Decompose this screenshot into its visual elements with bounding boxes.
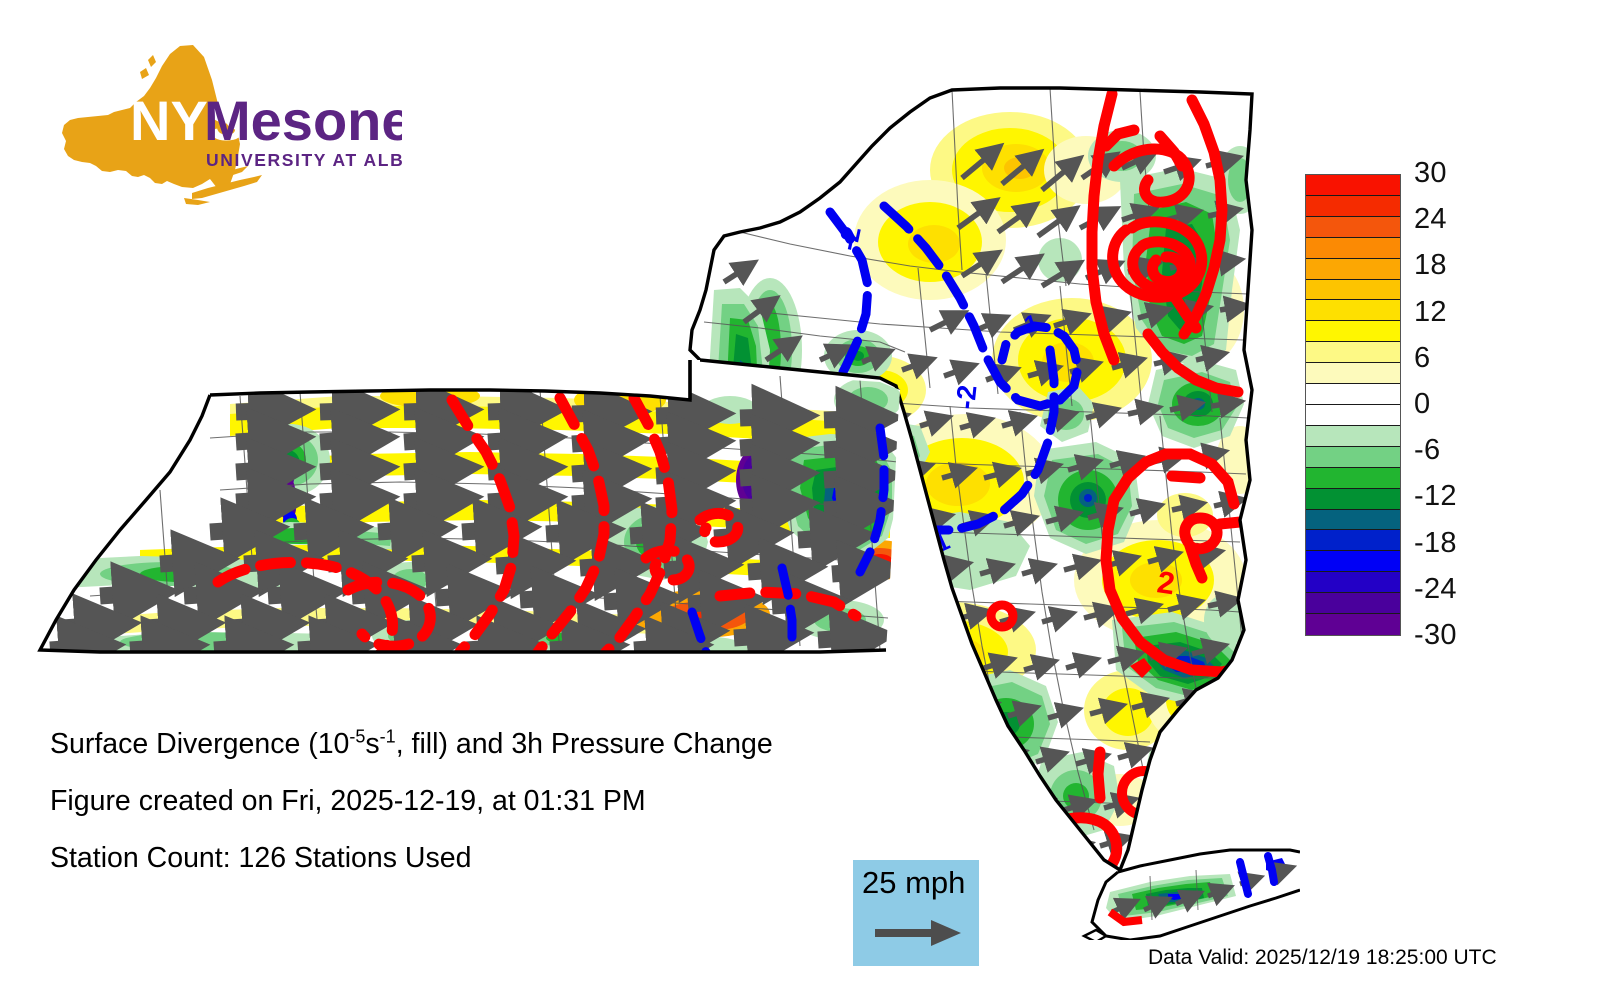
colorbar-tick-labels: 3024181260-6-12-18-24-30 xyxy=(1414,174,1544,636)
colorbar-band xyxy=(1306,447,1400,468)
caption-title-mid: s xyxy=(365,728,379,760)
caption-line-station-count: Station Count: 126 Stations Used xyxy=(50,830,950,887)
colorbar-band xyxy=(1306,384,1400,405)
figure-canvas: NYS Mesonet UNIVERSITY AT ALBANY xyxy=(0,0,1600,1000)
colorbar-band xyxy=(1306,572,1400,593)
right-arrow-icon xyxy=(873,915,963,951)
colorbar-band xyxy=(1306,489,1400,510)
colorbar-band xyxy=(1306,363,1400,384)
caption-exp-2: -1 xyxy=(380,727,396,747)
colorbar-tick-label: 18 xyxy=(1414,251,1447,280)
colorbar-band xyxy=(1306,280,1400,301)
caption-title-pre: Surface Divergence (10 xyxy=(50,728,349,760)
colorbar-tick-label: 0 xyxy=(1414,390,1430,419)
colorbar-tick-label: -12 xyxy=(1414,482,1457,511)
caption-line-created: Figure created on Fri, 2025-12-19, at 01… xyxy=(50,773,950,830)
colorbar xyxy=(1305,174,1401,636)
colorbar-band xyxy=(1306,426,1400,447)
colorbar-band xyxy=(1306,175,1400,196)
colorbar-band xyxy=(1306,259,1400,280)
colorbar-band xyxy=(1306,468,1400,489)
colorbar-band xyxy=(1306,217,1400,238)
colorbar-tick-label: -24 xyxy=(1414,575,1457,604)
colorbar-tick-label: -6 xyxy=(1414,436,1440,465)
colorbar-band xyxy=(1306,614,1400,635)
figure-caption: Surface Divergence (10-5s-1, fill) and 3… xyxy=(50,716,950,887)
caption-title-post: , fill) and 3h Pressure Change xyxy=(396,728,773,760)
colorbar-band xyxy=(1306,530,1400,551)
colorbar-band xyxy=(1306,321,1400,342)
wind-scale-legend: 25 mph xyxy=(853,860,979,966)
colorbar-band xyxy=(1306,510,1400,531)
caption-exp-1: -5 xyxy=(349,727,365,747)
colorbar-band xyxy=(1306,593,1400,614)
colorbar-band xyxy=(1306,196,1400,217)
contour-label-neg2-c: -2 xyxy=(950,384,982,411)
colorbar-band xyxy=(1306,342,1400,363)
data-valid-timestamp: Data Valid: 2025/12/19 18:25:00 UTC xyxy=(1148,946,1497,970)
colorbar-tick-label: 24 xyxy=(1414,205,1447,234)
colorbar-band xyxy=(1306,300,1400,321)
colorbar-band xyxy=(1306,405,1400,426)
colorbar-band xyxy=(1306,238,1400,259)
wind-scale-label: 25 mph xyxy=(862,864,965,902)
colorbar-band xyxy=(1306,551,1400,572)
colorbar-tick-label: 12 xyxy=(1414,298,1447,327)
colorbar-tick-label: -18 xyxy=(1414,529,1457,558)
colorbar-tick-label: 30 xyxy=(1414,159,1447,188)
caption-line-title: Surface Divergence (10-5s-1, fill) and 3… xyxy=(50,716,950,773)
colorbar-tick-label: 6 xyxy=(1414,344,1430,373)
colorbar-tick-label: -30 xyxy=(1414,621,1457,650)
